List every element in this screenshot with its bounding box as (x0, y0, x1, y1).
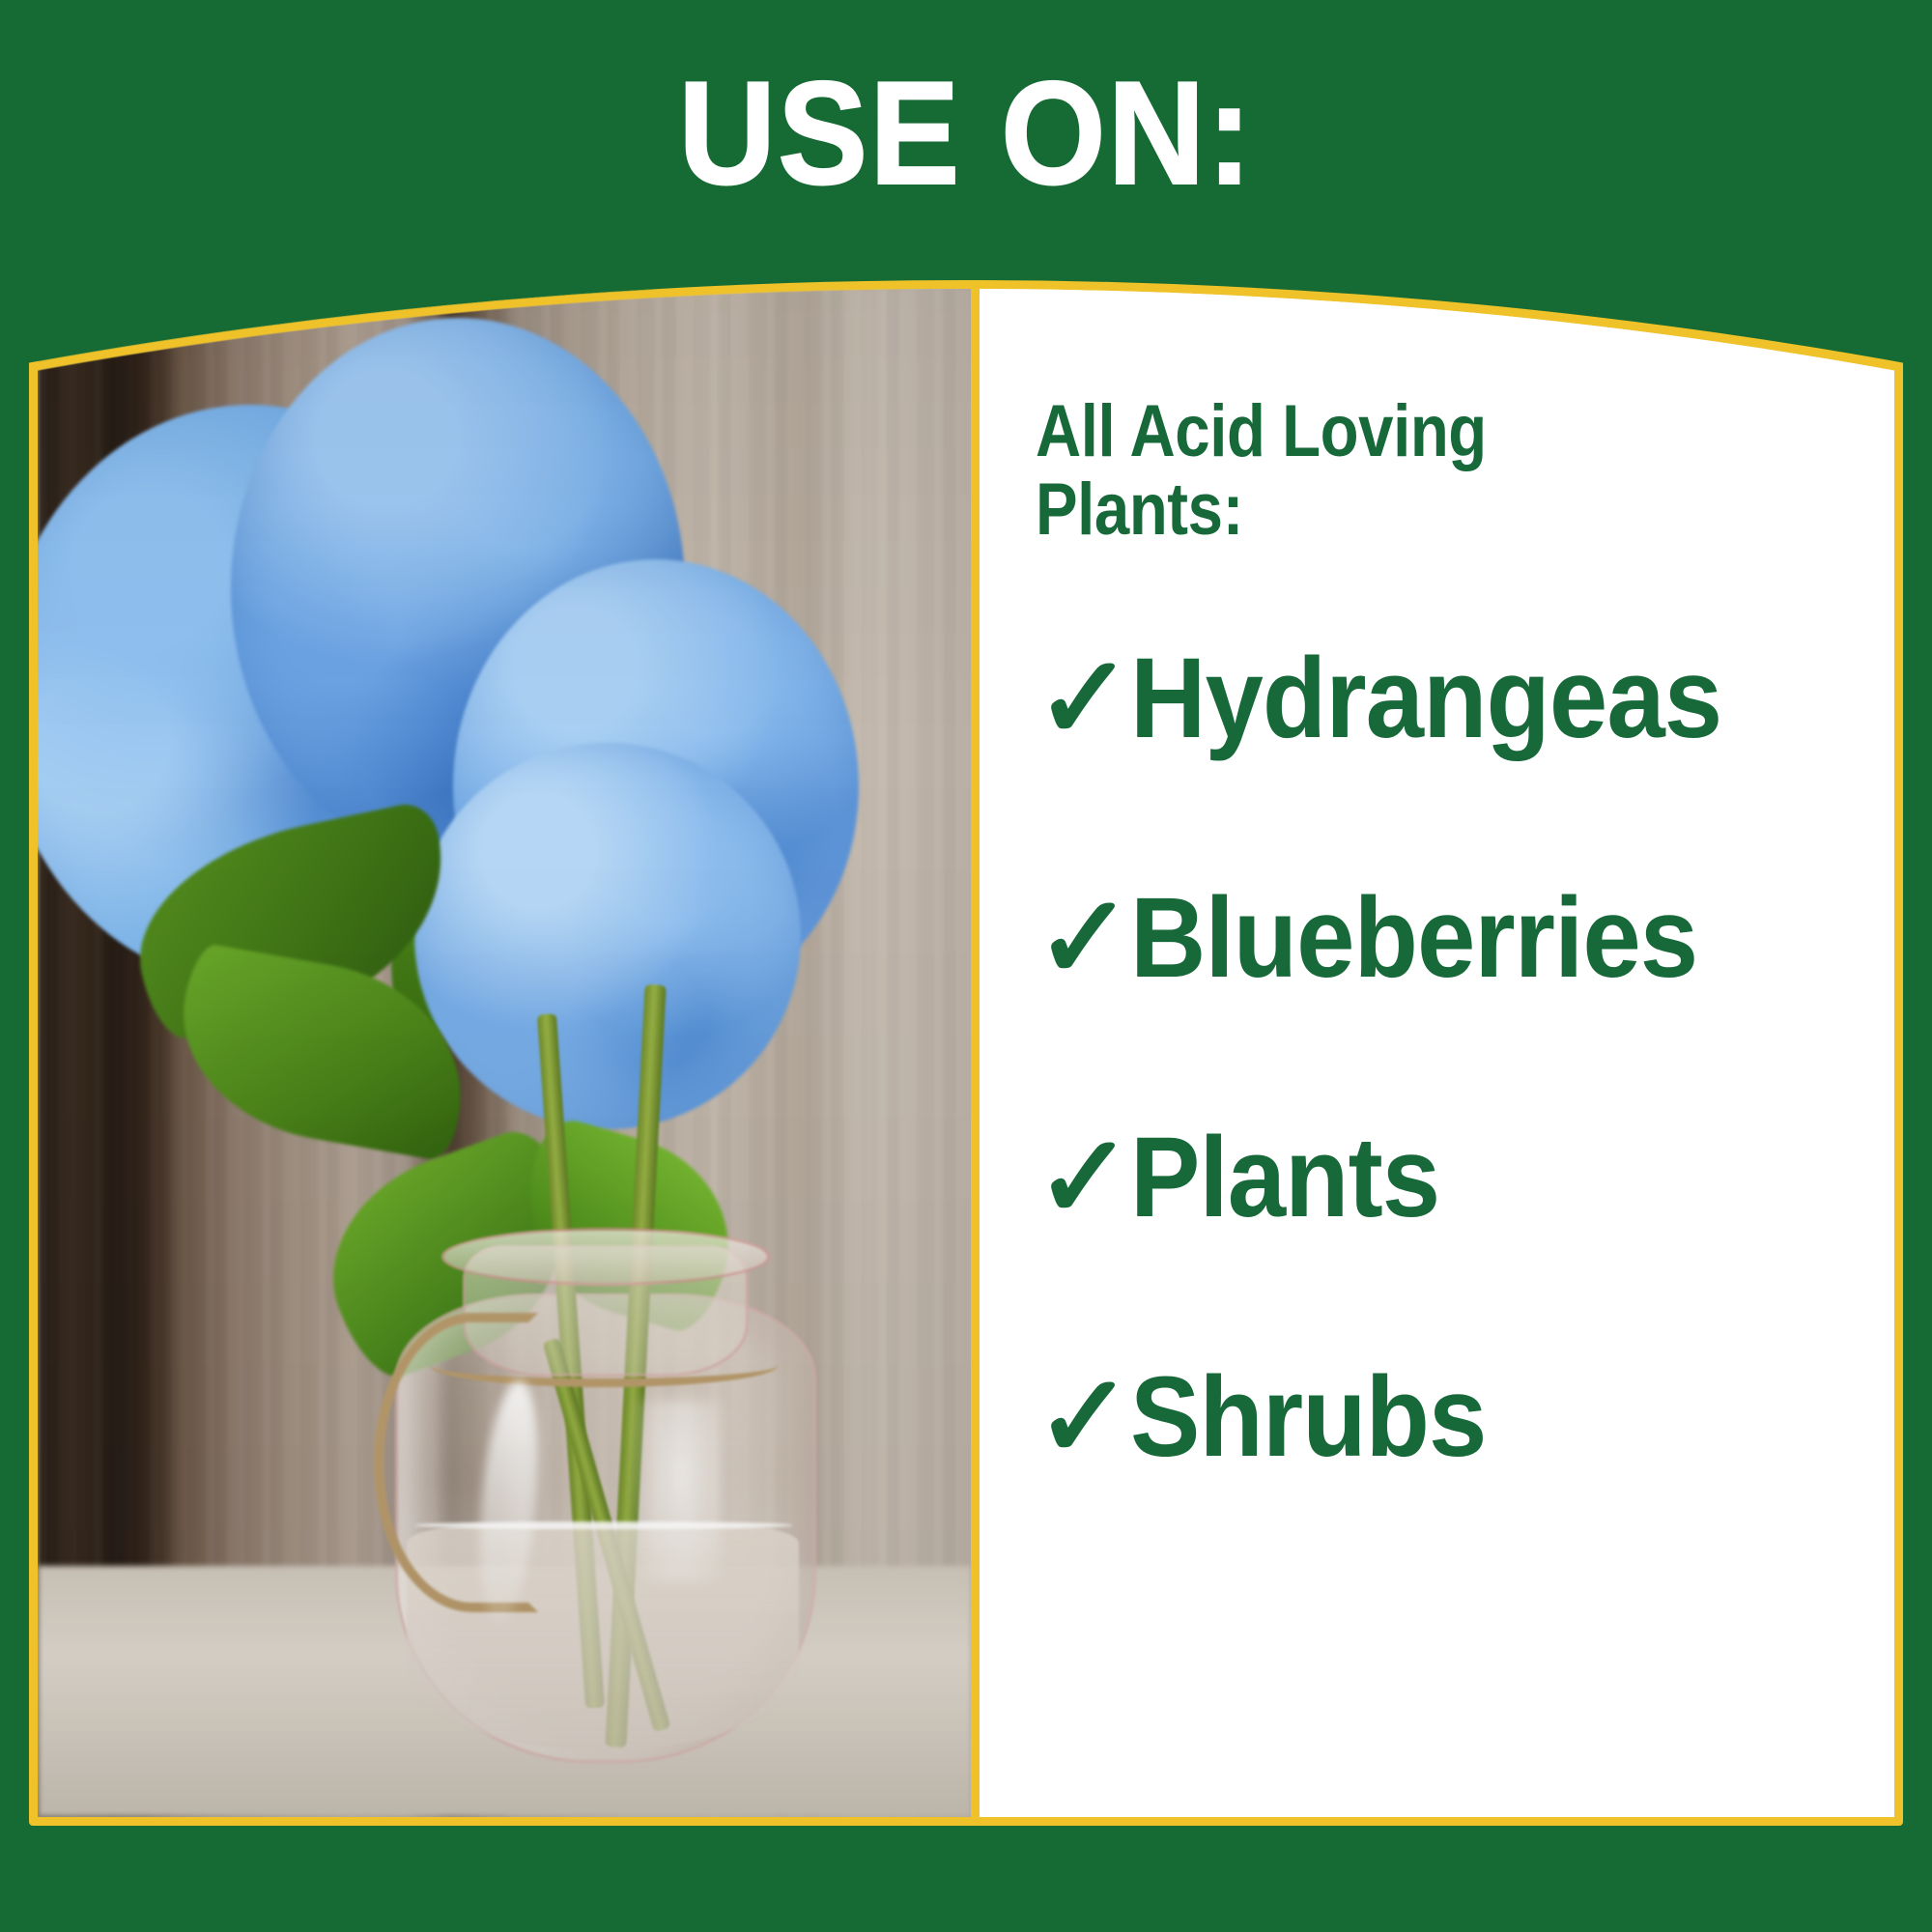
hydrangea-photo (38, 289, 971, 1817)
list-item: ✓ Shrubs (1036, 1297, 1894, 1537)
promo-graphic: USE ON: (0, 0, 1932, 1932)
checklist-label: Hydrangeas (1130, 641, 1721, 755)
twine-band (430, 1344, 778, 1387)
check-icon: ✓ (1036, 1120, 1130, 1236)
list-item: ✓ Plants (1036, 1058, 1894, 1297)
vase-highlight (637, 1400, 724, 1583)
page-title: USE ON: (77, 60, 1855, 207)
use-on-checklist: ✓ Hydrangeas ✓ Blueberries ✓ Plants (1036, 579, 1894, 1537)
checklist-label: Blueberries (1130, 881, 1697, 995)
list-item: ✓ Blueberries (1036, 818, 1894, 1058)
hydrangea-bloom (414, 743, 801, 1129)
checklist-label: Shrubs (1130, 1360, 1486, 1474)
list-item: ✓ Hydrangeas (1036, 579, 1894, 818)
card-inner-area: All Acid Loving Plants: ✓ Hydrangeas ✓ B… (38, 289, 1894, 1817)
content-card: All Acid Loving Plants: ✓ Hydrangeas ✓ B… (29, 280, 1903, 1826)
gold-frame-border: All Acid Loving Plants: ✓ Hydrangeas ✓ B… (29, 280, 1903, 1826)
panel-heading: All Acid Loving Plants: (1036, 393, 1617, 549)
check-icon: ✓ (1036, 640, 1130, 756)
checklist-label: Plants (1130, 1121, 1439, 1235)
check-icon: ✓ (1036, 880, 1130, 996)
info-panel: All Acid Loving Plants: ✓ Hydrangeas ✓ B… (980, 289, 1894, 1817)
check-icon: ✓ (1036, 1359, 1130, 1475)
glass-vase (395, 1216, 810, 1757)
vase-rim (441, 1228, 770, 1286)
panel-divider (971, 289, 980, 1817)
